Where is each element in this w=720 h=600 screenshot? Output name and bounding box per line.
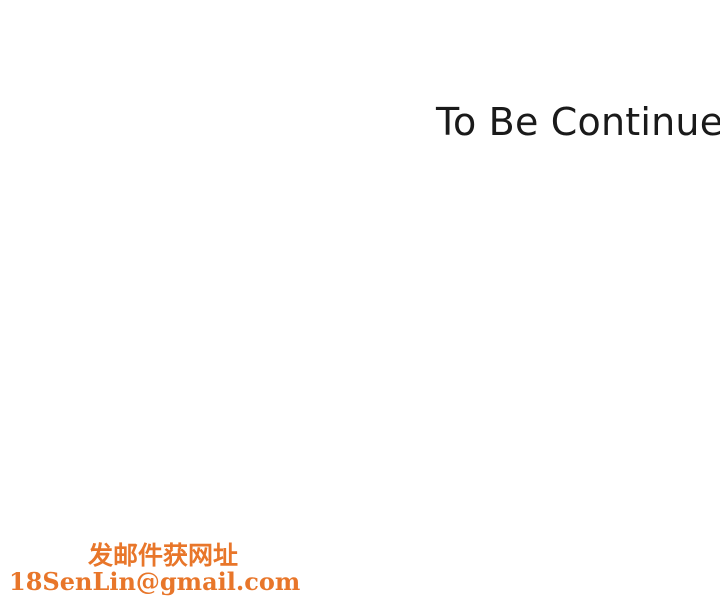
watermark-email-text: 18SenLin@gmail.com bbox=[9, 568, 300, 596]
watermark-chinese-text: 发邮件获网址 bbox=[88, 542, 238, 570]
end-card-title: To Be Continued bbox=[436, 99, 720, 145]
watermark: 发邮件获网址 18SenLin@gmail.com bbox=[0, 540, 260, 600]
page-canvas: To Be Continued 发邮件获网址 18SenLin@gmail.co… bbox=[0, 0, 720, 600]
